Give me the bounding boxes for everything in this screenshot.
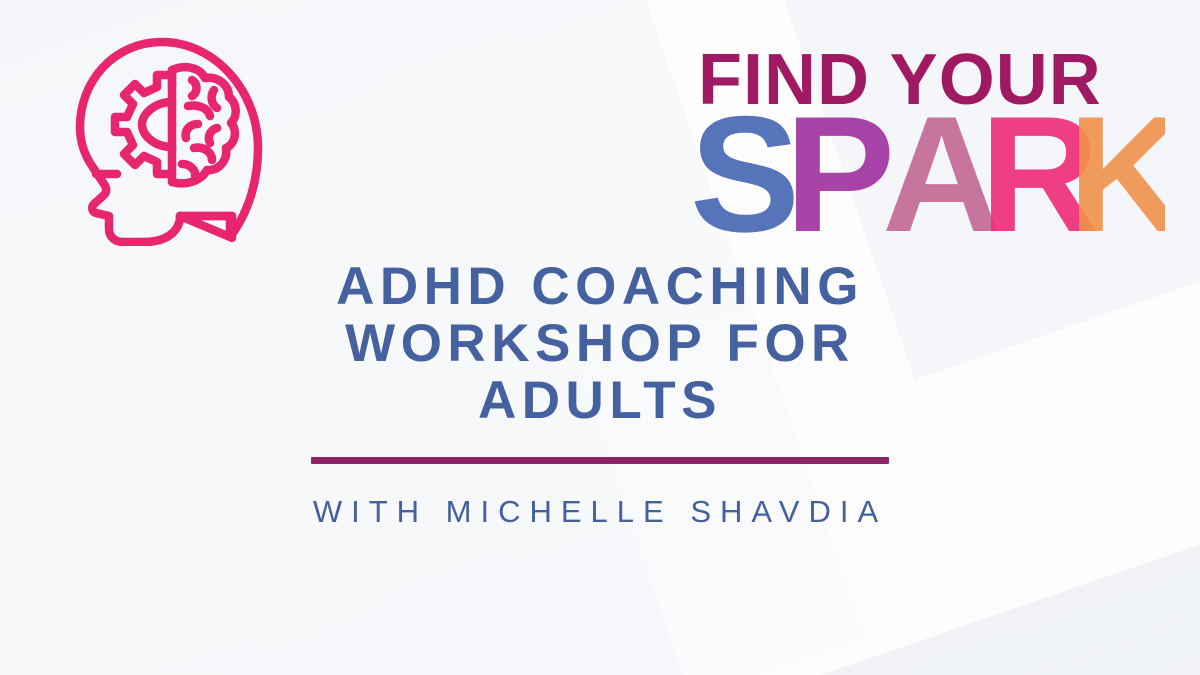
byline-wrap: WITH MICHELLE SHAVDIA	[0, 493, 1200, 531]
logo-letter-k: K	[1068, 82, 1165, 248]
diagonal-band-right	[514, 455, 1200, 675]
event-poster: FIND YOUR S P A R K ADHD COACHING WORKSH…	[0, 0, 1200, 675]
head-brain-gear-icon	[62, 24, 272, 246]
presenter-byline: WITH MICHELLE SHAVDIA	[0, 493, 1200, 531]
page-title: ADHD COACHING WORKSHOP FOR ADULTS	[0, 258, 1200, 429]
diagonal-band-right-lower	[574, 660, 1200, 675]
logo-letter-s: S	[690, 82, 794, 248]
headline-block: ADHD COACHING WORKSHOP FOR ADULTS	[0, 258, 1200, 429]
divider-wrap	[0, 457, 1200, 464]
divider-rule	[311, 457, 889, 464]
logo-letter-p: P	[785, 82, 890, 248]
find-your-spark-logo: FIND YOUR S P A R K	[690, 26, 1165, 248]
